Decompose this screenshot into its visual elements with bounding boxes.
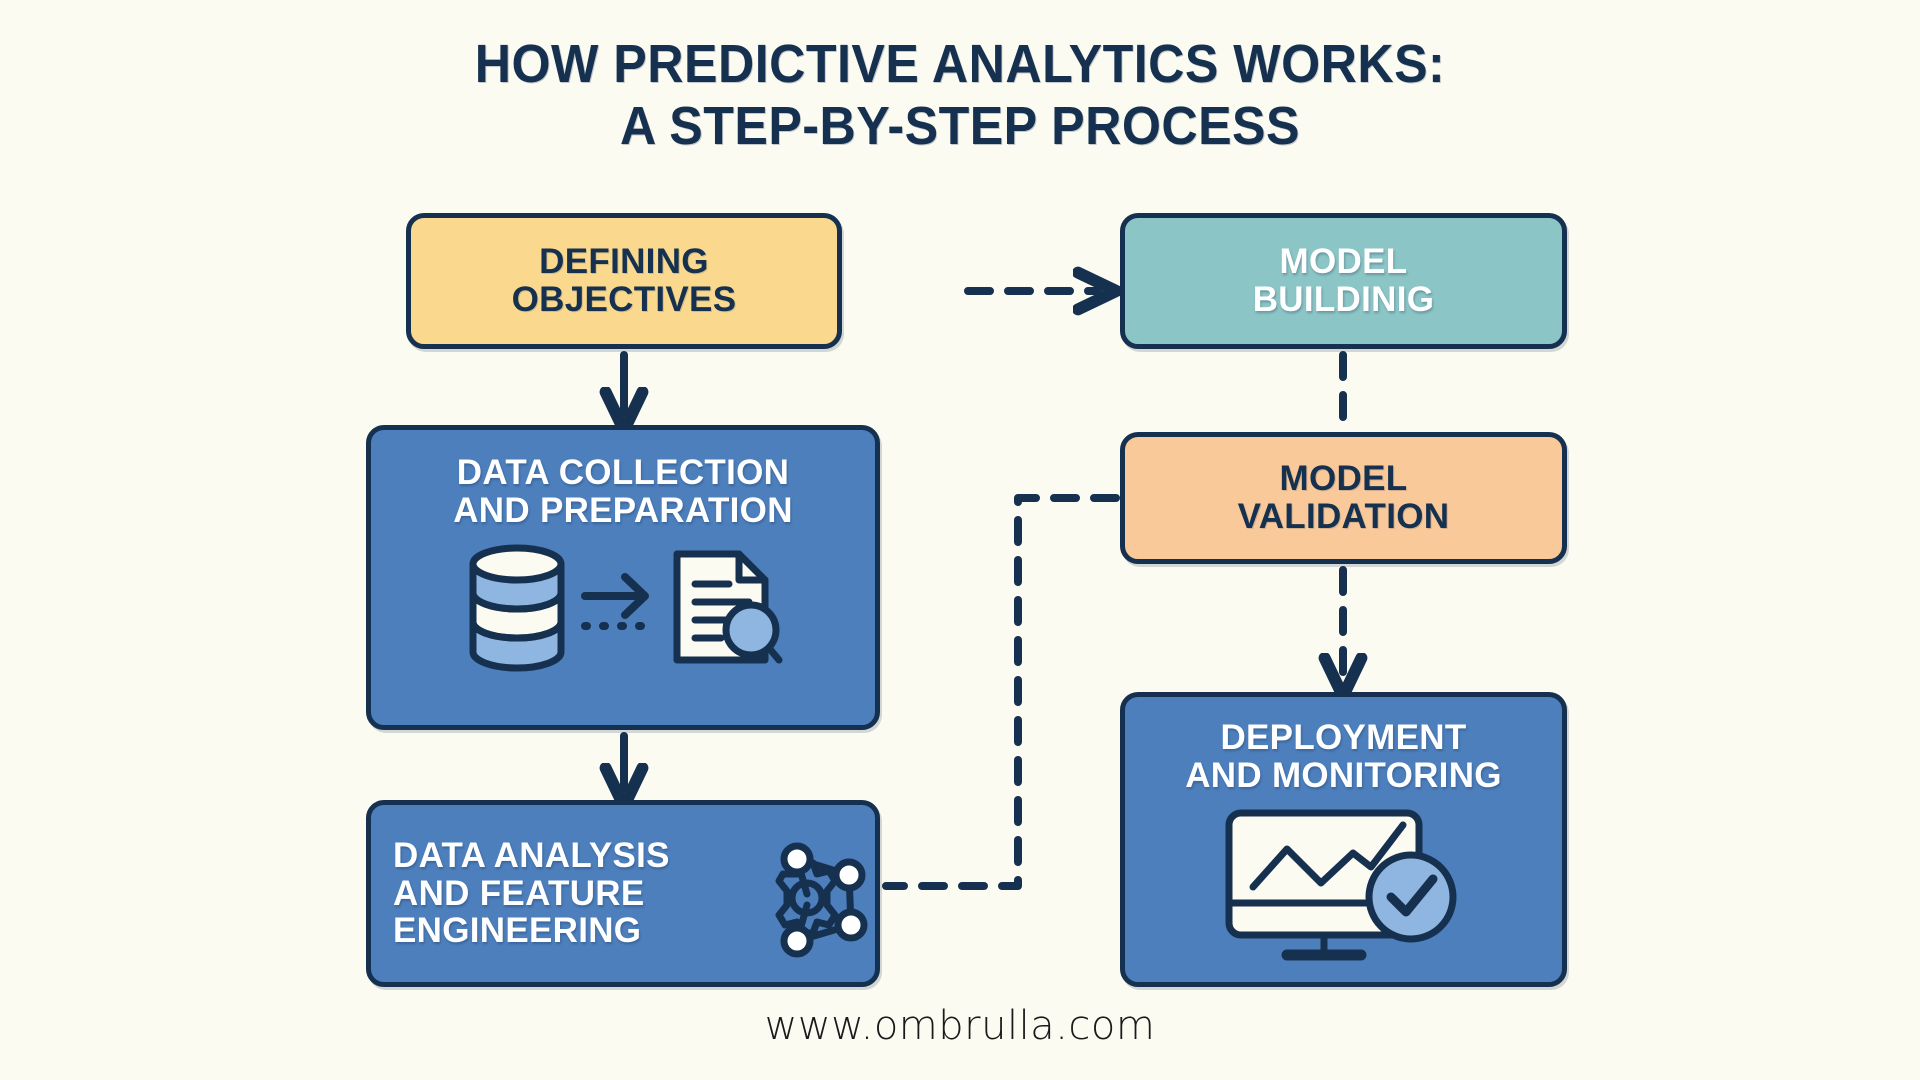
diagram-canvas: HOW PREDICTIVE ANALYTICS WORKS: A STEP-B… <box>0 0 1920 1080</box>
node-label-model-building: MODEL BUILDINIG <box>1253 243 1435 319</box>
connector-validation-feedback-to-analysis <box>886 498 1116 886</box>
node-data-analysis-and-feature-engineering[interactable]: DATA ANALYSIS AND FEATURE ENGINEERING <box>366 800 880 987</box>
connector-layer <box>0 0 1920 1080</box>
deployment-icon-group <box>1219 805 1469 963</box>
node-label-deployment: DEPLOYMENT AND MONITORING <box>1185 719 1502 795</box>
node-deployment-and-monitoring[interactable]: DEPLOYMENT AND MONITORING <box>1120 692 1567 987</box>
node-label-model-validation: MODEL VALIDATION <box>1238 460 1450 536</box>
node-model-validation[interactable]: MODEL VALIDATION <box>1120 432 1567 564</box>
node-data-collection-and-preparation[interactable]: DATA COLLECTION AND PREPARATION <box>366 425 880 730</box>
node-defining-objectives[interactable]: DEFINING OBJECTIVES <box>406 213 842 349</box>
monitor-chart-check-icon <box>1219 805 1469 963</box>
arrow-right-icon <box>577 544 659 672</box>
document-search-icon <box>665 544 783 672</box>
data-collection-icon-group <box>463 544 783 672</box>
gear-network-icon <box>745 819 875 969</box>
page-title-line-1: HOW PREDICTIVE ANALYTICS WORKS: <box>67 34 1853 96</box>
node-label-data-collection: DATA COLLECTION AND PREPARATION <box>453 454 793 530</box>
node-model-building[interactable]: MODEL BUILDINIG <box>1120 213 1567 349</box>
page-title: HOW PREDICTIVE ANALYTICS WORKS: A STEP-B… <box>0 34 1920 157</box>
node-label-data-analysis: DATA ANALYSIS AND FEATURE ENGINEERING <box>393 837 745 950</box>
database-icon <box>463 544 571 672</box>
footer-website-url[interactable]: www.ombrulla.com <box>0 1003 1920 1049</box>
node-label-defining-objectives: DEFINING OBJECTIVES <box>512 243 737 319</box>
page-title-line-2: A STEP-BY-STEP PROCESS <box>67 96 1853 158</box>
